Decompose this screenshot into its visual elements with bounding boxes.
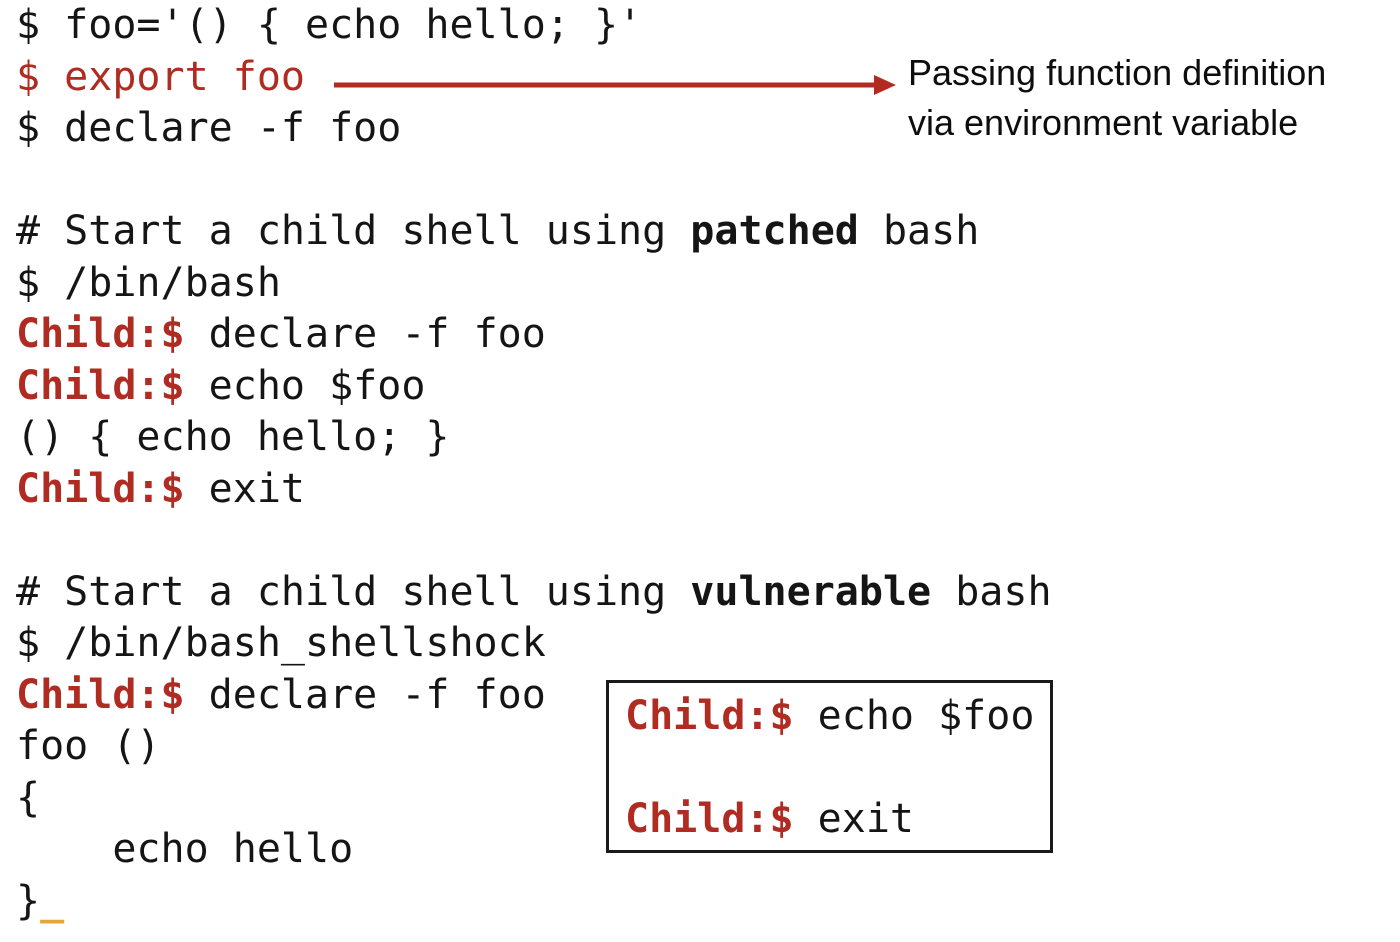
- terminal-line-l18: }_: [16, 876, 1136, 928]
- terminal-segment: $ /bin/bash_shellshock: [16, 620, 546, 666]
- terminal-line-l7: Child:$ declare -f foo: [16, 309, 1136, 361]
- terminal-line-l8: Child:$ echo $foo: [16, 361, 1136, 413]
- terminal-line-l5: # Start a child shell using patched bash: [16, 206, 1136, 258]
- terminal-line-l4: [16, 155, 1136, 207]
- terminal-segment: {: [16, 775, 40, 821]
- terminal-segment: bash: [931, 569, 1051, 615]
- terminal-segment: # Start a child shell using: [16, 208, 690, 254]
- callout-segment: exit: [794, 796, 914, 842]
- terminal-segment: patched: [690, 208, 859, 254]
- terminal-segment: # Start a child shell using: [16, 569, 690, 615]
- annotation-text: Passing function definition via environm…: [908, 48, 1398, 148]
- terminal-line-l6: $ /bin/bash: [16, 258, 1136, 310]
- callout-line-c3: Child:$ exit: [625, 794, 1034, 846]
- terminal-line-l12: # Start a child shell using vulnerable b…: [16, 567, 1136, 619]
- terminal-segment: $ declare -f foo: [16, 105, 401, 151]
- callout-line-c1: Child:$ echo $foo: [625, 691, 1034, 743]
- terminal-segment: bash: [859, 208, 979, 254]
- terminal-line-l9: () { echo hello; }: [16, 412, 1136, 464]
- terminal-segment: exit: [185, 466, 305, 512]
- terminal-segment: declare -f foo: [185, 672, 546, 718]
- terminal-segment: echo $foo: [185, 363, 426, 409]
- terminal-segment: vulnerable: [690, 569, 931, 615]
- terminal-line-l13: $ /bin/bash_shellshock: [16, 618, 1136, 670]
- terminal-segment: echo hello: [16, 826, 353, 872]
- terminal-segment: $ foo='() { echo hello; }': [16, 2, 642, 48]
- terminal-segment: foo (): [16, 723, 161, 769]
- terminal-line-l1: $ foo='() { echo hello; }': [16, 0, 1136, 52]
- callout-line-c2: [625, 743, 1034, 795]
- child-prompt: Child:$: [625, 693, 794, 739]
- terminal-segment: declare -f foo: [185, 311, 546, 357]
- terminal-segment: [16, 517, 40, 563]
- child-prompt: Child:$: [16, 311, 185, 357]
- callout-box: Child:$ echo $foo Child:$ exit: [606, 680, 1053, 853]
- child-prompt: Child:$: [16, 672, 185, 718]
- terminal-cursor: _: [40, 878, 64, 924]
- callout-transcript: Child:$ echo $foo Child:$ exit: [625, 691, 1034, 846]
- terminal-segment: }: [16, 878, 40, 924]
- child-prompt: Child:$: [625, 796, 794, 842]
- terminal-segment: [16, 157, 40, 203]
- terminal-segment: $ export foo: [16, 54, 305, 100]
- slide-canvas: $ foo='() { echo hello; }'$ export foo$ …: [0, 0, 1400, 942]
- terminal-segment: $ /bin/bash: [16, 260, 281, 306]
- child-prompt: Child:$: [16, 466, 185, 512]
- callout-segment: [625, 745, 649, 791]
- terminal-line-l11: [16, 515, 1136, 567]
- terminal-segment: () { echo hello; }: [16, 414, 449, 460]
- callout-segment: echo $foo: [794, 693, 1035, 739]
- child-prompt: Child:$: [16, 363, 185, 409]
- terminal-line-l10: Child:$ exit: [16, 464, 1136, 516]
